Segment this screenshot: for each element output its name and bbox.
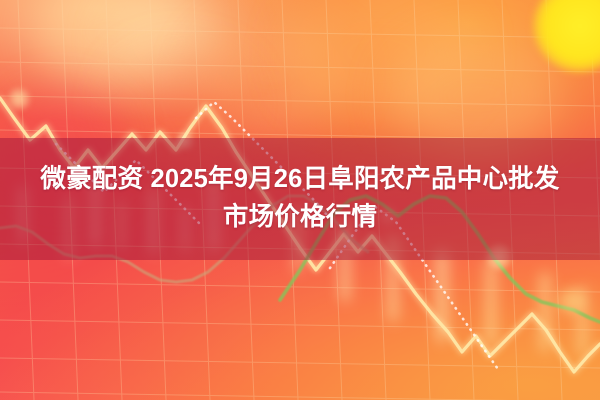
gridline-horizontal	[0, 392, 600, 400]
gridline-horizontal	[0, 62, 600, 72]
gridline-horizontal	[0, 28, 600, 38]
gridline-horizontal	[0, 358, 600, 368]
caption-line-1: 微豪配资 2025年9月26日阜阳农产品中心批发	[40, 161, 559, 199]
price-quote-banner: 微豪配资 2025年9月26日阜阳农产品中心批发 市场价格行情	[0, 0, 600, 400]
caption-line-2: 市场价格行情	[223, 199, 377, 237]
gridline-horizontal	[0, 282, 600, 292]
caption-overlay-band: 微豪配资 2025年9月26日阜阳农产品中心批发 市场价格行情	[0, 138, 600, 260]
gridline-horizontal	[0, 320, 600, 330]
gridline-horizontal	[0, 96, 600, 106]
